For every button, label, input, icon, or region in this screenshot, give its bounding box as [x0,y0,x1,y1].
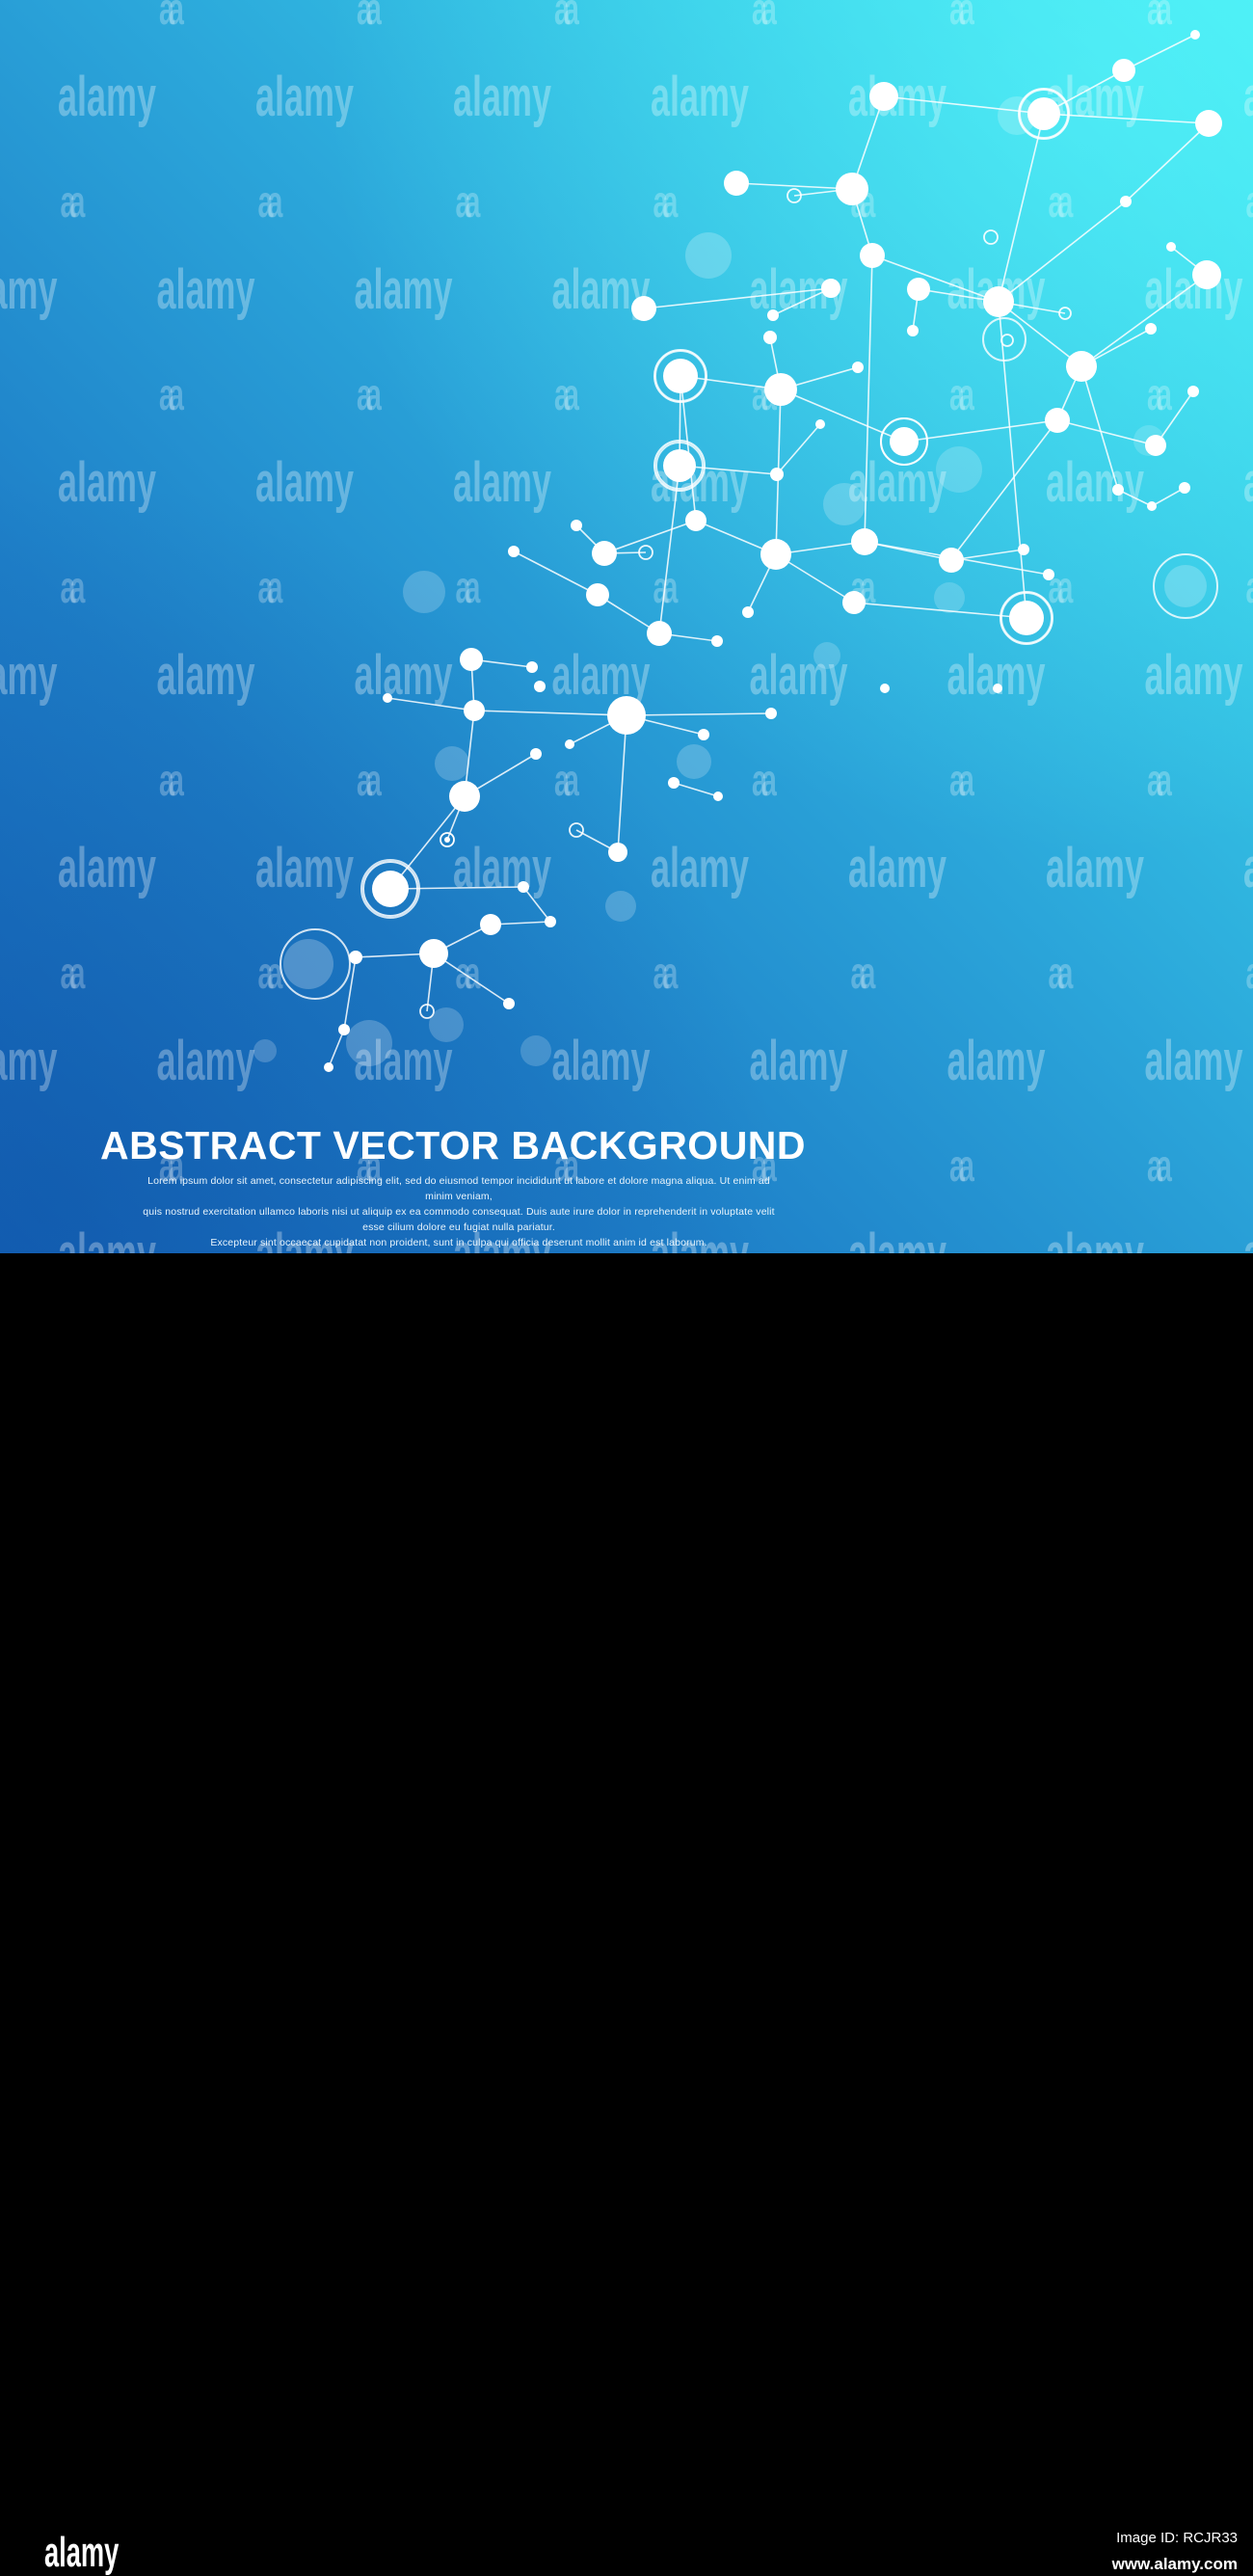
network-node [647,621,672,646]
network-node [586,583,609,606]
image-id-label: Image ID: RCJR33 [1112,2528,1238,2549]
network-node [1187,386,1199,397]
network-node [518,881,529,893]
stock-footer-bar: alamy Image ID: RCJR33 www.alamy.com [0,1253,1253,1340]
network-node [907,325,919,336]
network-node [349,951,362,964]
soft-blob [813,642,840,669]
network-node [1066,351,1097,382]
network-node [869,82,898,111]
network-node [1190,30,1200,40]
network-node [534,681,546,692]
soft-blob [605,891,636,922]
network-node [631,296,656,321]
network-node [338,1024,350,1035]
network-node [526,661,538,673]
network-node [1195,110,1222,137]
network-node [1166,242,1176,252]
network-node [765,708,777,719]
network-node [565,739,574,749]
soft-blob [283,939,333,989]
network-node [571,520,582,531]
network-node [907,278,930,301]
network-node [464,700,485,721]
network-node [742,606,754,618]
network-node [1145,435,1166,456]
network-node [592,541,617,566]
network-node [993,684,1002,693]
alamy-url-link[interactable]: www.alamy.com [1112,2553,1238,2576]
network-node [419,939,448,968]
network-node [1145,323,1157,335]
soft-blob [253,1039,277,1062]
network-node [763,331,777,344]
network-node [770,468,784,481]
network-node [663,359,698,393]
network-node [460,648,483,671]
bottom-left-shade [0,0,1253,1253]
network-node [760,539,791,570]
network-node [530,748,542,760]
network-node [836,173,868,205]
network-node [767,309,779,321]
abstract-network-artwork [0,0,1253,1253]
footer-meta: Image ID: RCJR33 www.alamy.com [1112,2528,1238,2576]
network-node [685,510,706,531]
soft-blob [403,571,445,613]
soft-blob [823,483,866,525]
network-node [508,546,520,557]
network-node [713,792,723,801]
network-node [698,729,709,740]
network-node [890,427,919,456]
network-node [372,871,409,907]
image-canvas: alamyaaalamyaaalamyaaalamyaaalamyaaalamy… [0,0,1253,1340]
network-node [608,843,627,862]
network-node [444,837,450,843]
network-node [842,591,866,614]
network-node [1112,59,1135,82]
network-node [663,449,696,482]
network-node [1045,408,1070,433]
alamy-logo[interactable]: alamy [44,2532,119,2574]
soft-blob [1164,565,1207,607]
network-node [668,777,680,789]
network-node [1027,97,1060,130]
network-node [1179,482,1190,494]
network-node [1147,501,1157,511]
network-node [1112,484,1124,496]
network-node [545,916,556,927]
network-node [880,684,890,693]
soft-blob [685,232,732,279]
soft-blob [435,746,469,781]
network-node [815,419,825,429]
soft-blob [346,1020,392,1066]
network-node [851,528,878,555]
soft-blob [520,1035,551,1066]
network-node [383,693,392,703]
network-node [764,373,797,406]
network-node [821,279,840,298]
network-node [324,1062,333,1072]
network-node [711,635,723,647]
network-node [724,171,749,196]
network-node [1043,569,1054,580]
soft-blob [677,744,711,779]
network-node [939,548,964,573]
network-node [1009,601,1044,635]
network-node [852,362,864,373]
network-node [983,286,1014,317]
network-svg [0,0,1253,1253]
network-node [1018,544,1029,555]
soft-blob [936,446,982,493]
network-node [1120,196,1132,207]
network-node [449,781,480,812]
soft-blob [934,582,965,613]
network-node [480,914,501,935]
network-node [860,243,885,268]
network-node [503,998,515,1009]
network-node [1192,260,1221,289]
network-node [607,696,646,735]
